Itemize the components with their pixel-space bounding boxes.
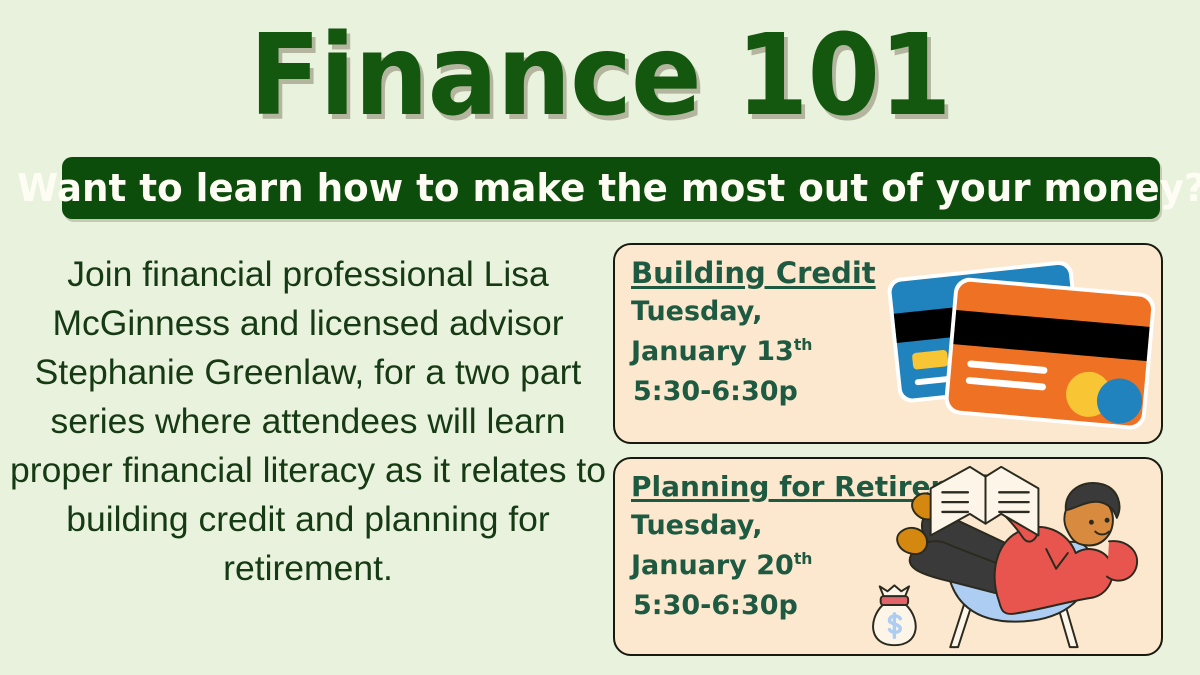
subtitle-banner: Want to learn how to make the most out o… [62, 157, 1160, 219]
event-date-main: January 13 [631, 336, 794, 367]
event-card-planning-for-retirement: Planning for Retirement Tuesday, January… [613, 457, 1163, 656]
event-day: Tuesday, [631, 506, 1031, 546]
event-card-text-block: Building Credit Tuesday, January 13th 5:… [631, 254, 1031, 412]
event-date-suffix: th [794, 549, 813, 568]
event-card-text-block: Planning for Retirement Tuesday, January… [631, 468, 1031, 626]
event-date: January 13th [631, 332, 1031, 372]
event-day: Tuesday, [631, 292, 1031, 332]
event-time: 5:30-6:30p [631, 586, 1031, 626]
event-date-suffix: th [794, 335, 813, 354]
event-title: Planning for Retirement [631, 468, 1031, 506]
page-title: Finance 101 [42, 14, 1158, 139]
event-title: Building Credit [631, 254, 1031, 292]
event-date: January 20th [631, 546, 1031, 586]
event-date-main: January 20 [631, 550, 794, 581]
poster-root: Finance 101 Want to learn how to make th… [0, 0, 1200, 675]
event-card-building-credit: Building Credit Tuesday, January 13th 5:… [613, 243, 1163, 444]
description-paragraph: Join financial professional Lisa McGinne… [10, 250, 606, 593]
event-time: 5:30-6:30p [631, 372, 1031, 412]
subtitle-text: Want to learn how to make the most out o… [17, 169, 1200, 207]
